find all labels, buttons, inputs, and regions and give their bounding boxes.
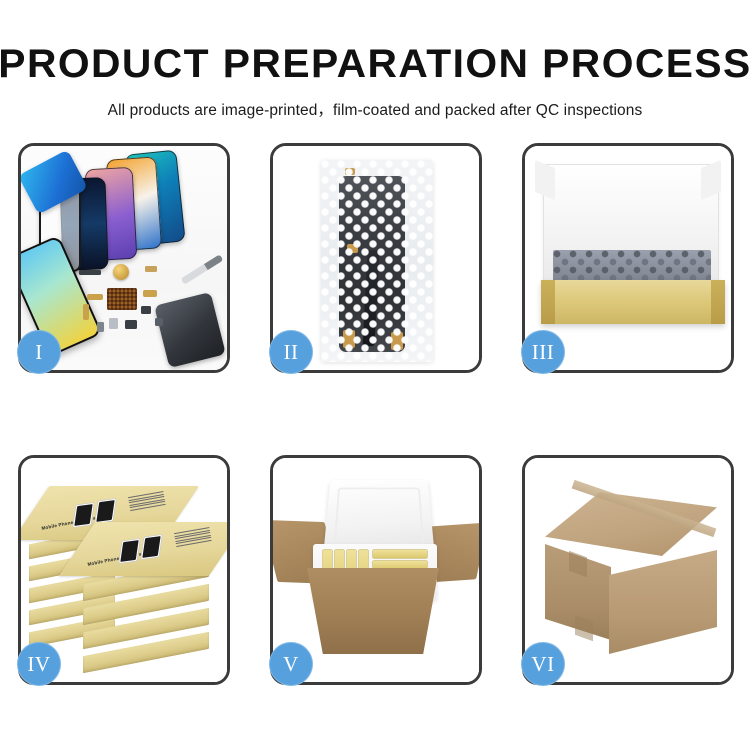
foam-lid-flap-left bbox=[535, 160, 555, 200]
box-stack: Mobile Phone Spare Parts Mobile Phone Sp… bbox=[27, 480, 227, 660]
step-panel-6: VI bbox=[522, 455, 734, 685]
step-badge-1: I bbox=[17, 330, 61, 374]
bubble-wrap-bag bbox=[321, 160, 433, 362]
step-panel-4: Mobile Phone Spare Parts Mobile Phone Sp… bbox=[18, 455, 230, 685]
carton-right-face bbox=[609, 550, 717, 654]
step-badge-2: II bbox=[269, 330, 313, 374]
phone-back-housing bbox=[154, 292, 226, 368]
tray-edge-left bbox=[541, 280, 555, 324]
tray-edge-right bbox=[711, 280, 725, 324]
step-panel-3: III bbox=[522, 143, 734, 373]
product-preparation-infographic: PRODUCT PREPARATION PROCESS All products… bbox=[0, 0, 750, 750]
page-title: PRODUCT PREPARATION PROCESS bbox=[0, 0, 750, 84]
spare-part bbox=[141, 306, 151, 314]
header: PRODUCT PREPARATION PROCESS All products… bbox=[0, 0, 750, 120]
box-phone-image bbox=[141, 535, 162, 559]
yellow-box bbox=[373, 550, 427, 558]
spare-part bbox=[97, 322, 104, 332]
step-badge-4: IV bbox=[17, 642, 61, 686]
spare-part bbox=[109, 318, 118, 329]
flex-cable bbox=[143, 290, 157, 297]
spare-part bbox=[125, 320, 137, 329]
speaker-component bbox=[113, 264, 129, 280]
screw-grid-component bbox=[107, 288, 137, 310]
step-panel-2: II bbox=[270, 143, 482, 373]
step-badge-3: III bbox=[521, 330, 565, 374]
bubble-texture-highlight bbox=[321, 160, 433, 362]
screwdriver-tool bbox=[181, 254, 224, 284]
step-badge-5: V bbox=[269, 642, 313, 686]
yellow-box-tray bbox=[541, 280, 725, 324]
box-top-front: Mobile Phone Spare Parts bbox=[77, 522, 227, 576]
step-badge-6: VI bbox=[521, 642, 565, 686]
steps-grid: I II bbox=[18, 143, 734, 685]
grey-bubble-padding bbox=[553, 250, 711, 284]
flex-cable bbox=[87, 294, 103, 300]
step-panel-1: I bbox=[18, 143, 230, 373]
box-phone-image bbox=[119, 539, 140, 563]
spare-part bbox=[79, 270, 101, 275]
step-panel-5: V bbox=[270, 455, 482, 685]
spare-part bbox=[145, 266, 157, 272]
yellow-box bbox=[373, 561, 427, 569]
box-phone-image bbox=[95, 499, 116, 523]
spare-part bbox=[155, 318, 163, 326]
flex-cable bbox=[83, 304, 89, 320]
page-subtitle: All products are image-printed，film-coat… bbox=[0, 84, 750, 120]
carton-body bbox=[307, 568, 439, 654]
